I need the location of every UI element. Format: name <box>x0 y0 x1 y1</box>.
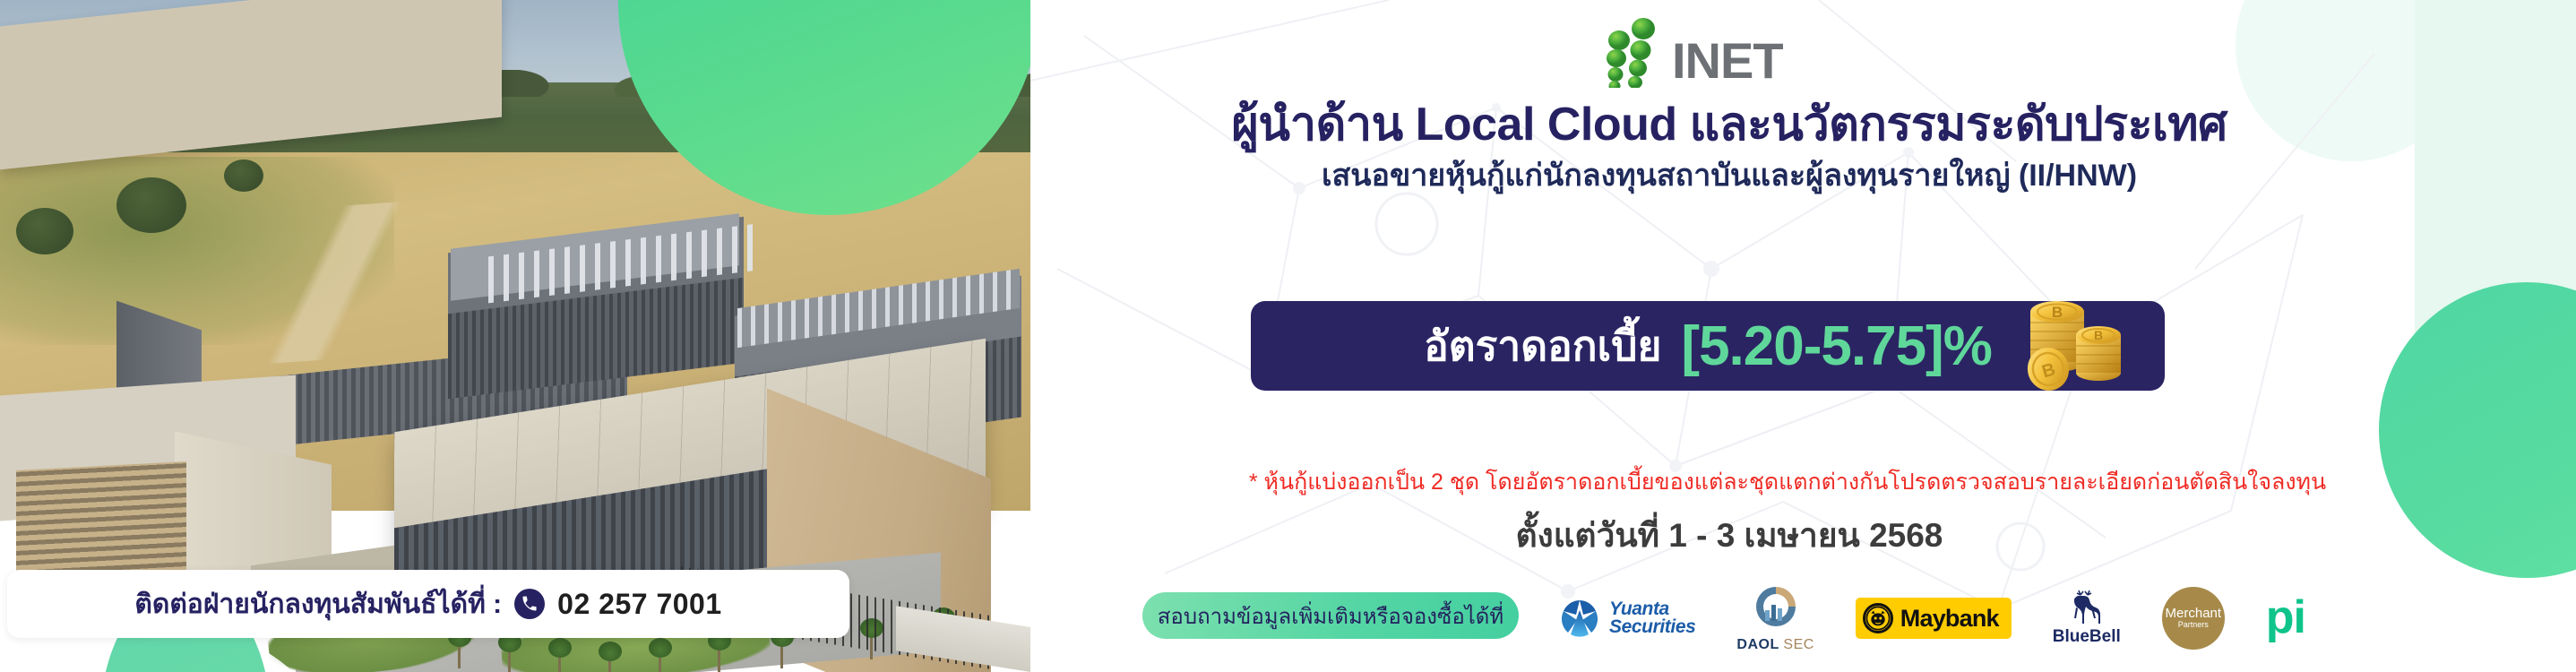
contact-label: ติดต่อฝ่ายนักลงทุนสัมพันธ์ได้ที่ : <box>134 583 502 625</box>
inet-logo-dots-icon <box>1604 18 1670 88</box>
broker-logo-bluebell[interactable]: BlueBell <box>2053 582 2121 655</box>
daol-circle-icon <box>1753 583 1799 630</box>
broker-logo-maybank[interactable]: Maybank <box>1856 582 2012 655</box>
broker-logo-yuanta[interactable]: Yuanta Securities <box>1559 582 1695 655</box>
broker-logo-pi[interactable]: pi <box>2266 582 2305 655</box>
broker-logo-daol[interactable]: DAOL SEC <box>1736 582 1814 655</box>
svg-text:B: B <box>2052 304 2063 321</box>
bitcoin-coins-icon: B B B <box>2016 276 2124 392</box>
bluebell-name: BlueBell <box>2053 627 2121 647</box>
investor-relations-contact-card: ติดต่อฝ่ายนักลงทุนสัมพันธ์ได้ที่ : 02 25… <box>7 570 849 638</box>
interest-rate-label: อัตราดอกเบี้ย <box>1424 314 1661 379</box>
bluebell-deer-icon <box>2066 590 2107 625</box>
daol-name: DAOL <box>1736 637 1779 652</box>
maybank-name: Maybank <box>1900 605 1999 633</box>
palm-tree <box>649 638 672 672</box>
page-subtitle: เสนอขายหุ้นกู้แก่นักลงทุนสถาบันและผู้ลงท… <box>1030 151 2428 199</box>
tree <box>224 159 263 192</box>
palm-tree <box>548 638 572 672</box>
yuanta-star-icon <box>1559 598 1600 639</box>
interest-rate-value: [5.20-5.75]% <box>1681 314 1991 378</box>
broker-logo-merchant[interactable]: Merchant Partners <box>2162 582 2225 655</box>
offer-period: ตั้งแต่วันที่ 1 - 3 เมษายน 2568 <box>1030 509 2428 562</box>
inquiry-cta-button[interactable]: สอบถามข้อมูลเพิ่มเติมหรือจองซื้อได้ที่ <box>1142 592 1519 639</box>
merchant-name-line1: Merchant <box>2166 607 2222 621</box>
yuanta-name-line2: Securities <box>1609 618 1695 636</box>
pi-name: pi <box>2266 599 2305 637</box>
interest-rate-box: อัตราดอกเบี้ย [5.20-5.75]% <box>1251 301 2165 391</box>
yuanta-name-line1: Yuanta <box>1609 600 1695 618</box>
svg-text:B: B <box>2094 328 2103 342</box>
page-title: ผู้นำด้าน Local Cloud และนวัตกรรมระดับปร… <box>1030 86 2428 160</box>
contact-phone-number: 02 257 7001 <box>557 588 721 621</box>
inet-logo-text: INET <box>1672 31 1783 90</box>
tree <box>116 177 186 233</box>
broker-logo-row: Yuanta Securities DAO <box>1559 578 2576 659</box>
offer-disclaimer: * หุ้นกู้แบ่งออกเป็น 2 ชุด โดยอัตราดอกเบ… <box>1030 464 2545 500</box>
promo-banner: INET ผู้นำด้าน Local Cloud และนวัตกรรมระ… <box>0 0 2576 672</box>
inet-logo: INET <box>1604 16 1873 90</box>
tree <box>16 208 73 254</box>
daol-sec-suffix: SEC <box>1783 637 1814 652</box>
merchant-name-line2: Partners <box>2178 621 2209 629</box>
content-panel: INET ผู้นำด้าน Local Cloud และนวัตกรรมระ… <box>1030 0 2576 672</box>
palm-tree <box>498 633 521 672</box>
maybank-tiger-icon <box>1863 603 1893 633</box>
phone-icon <box>514 589 545 619</box>
palm-tree <box>599 642 622 672</box>
